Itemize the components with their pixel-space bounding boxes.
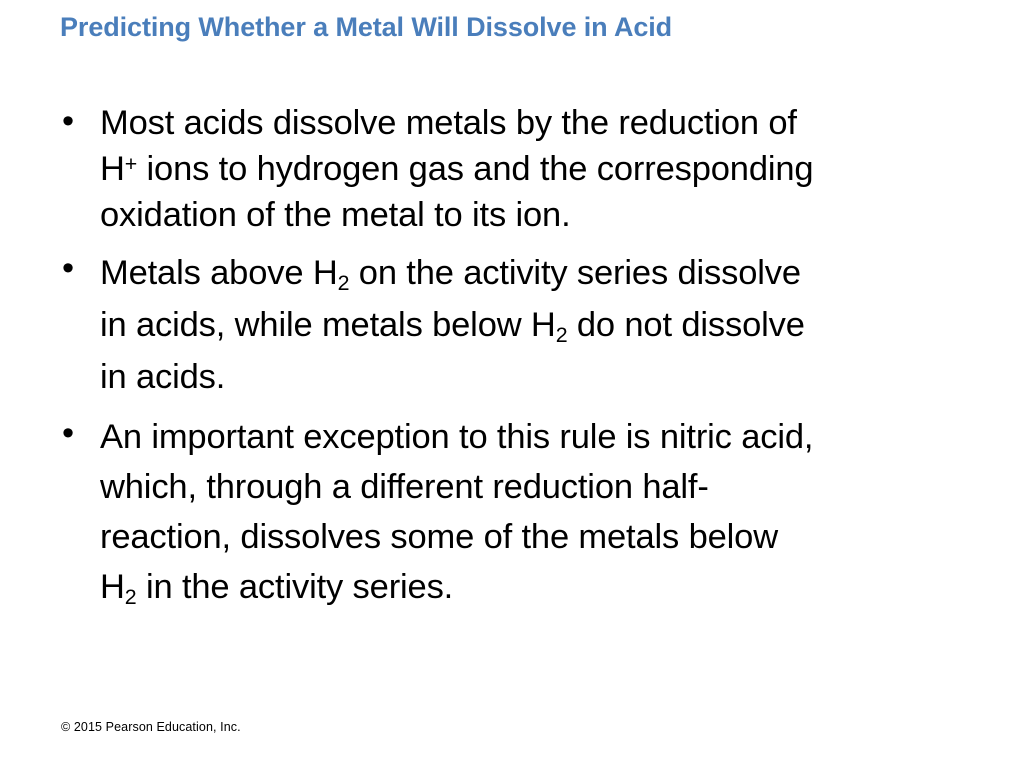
bullet-line-text: in acids. [100,358,225,396]
bullet-line: Most acids dissolve metals by the reduct… [100,100,997,146]
slide-canvas: Predicting Whether a Metal Will Dissolve… [0,0,1024,768]
bullet-line: An important exception to this rule is n… [100,412,997,462]
bullet-line-text: An important exception to this rule is n… [100,418,813,456]
bullet-dot-icon: • [62,247,74,291]
bullet-line-text: Most acids dissolve metals by the reduct… [100,104,797,142]
bullet-line: which, through a different reduction hal… [100,462,997,512]
bullet-line-text: H [100,568,125,606]
bullet-line-text: which, through a different reduction hal… [100,468,709,506]
bullet-line-text: Metals above H [100,254,338,292]
bullet-item-acids-dissolve-metals: • Most acids dissolve metals by the redu… [52,100,997,238]
bullet-line-text: in acids, while metals below H [100,306,556,344]
bullet-item-activity-series: • Metals above H2 on the activity series… [52,247,997,403]
bullet-line-text: H [100,150,125,188]
page-title: Predicting Whether a Metal Will Dissolve… [60,13,980,43]
bullet-line-text-tail: ions to hydrogen gas and the correspondi… [137,150,813,188]
bullet-line: in acids, while metals below H2 do not d… [100,299,997,351]
bullet-line: in acids. [100,351,997,403]
copyright-footer: © 2015 Pearson Education, Inc. [61,720,241,734]
subscript-two: 2 [125,585,137,609]
bullet-line-text-tail: on the activity series dissolve [349,254,801,292]
bullet-line: oxidation of the metal to its ion. [100,192,997,238]
bullet-line-text-tail: in the activity series. [137,568,454,606]
superscript-charge: + [125,152,137,176]
bullet-line: H2 in the activity series. [100,562,997,612]
bullet-item-nitric-acid-exception: • An important exception to this rule is… [52,412,997,612]
subscript-two: 2 [556,323,568,347]
bullet-line: Metals above H2 on the activity series d… [100,247,997,299]
bullet-line-text: oxidation of the metal to its ion. [100,196,571,234]
subscript-two: 2 [338,271,350,295]
bullet-dot-icon: • [62,412,74,456]
bullet-dot-icon: • [62,100,74,144]
bullet-line-text: reaction, dissolves some of the metals b… [100,518,778,556]
bullet-line: reaction, dissolves some of the metals b… [100,512,997,562]
bullet-line: H+ ions to hydrogen gas and the correspo… [100,146,997,192]
slide-body: • Most acids dissolve metals by the redu… [52,100,997,612]
bullet-line-text-tail: do not dissolve [567,306,804,344]
